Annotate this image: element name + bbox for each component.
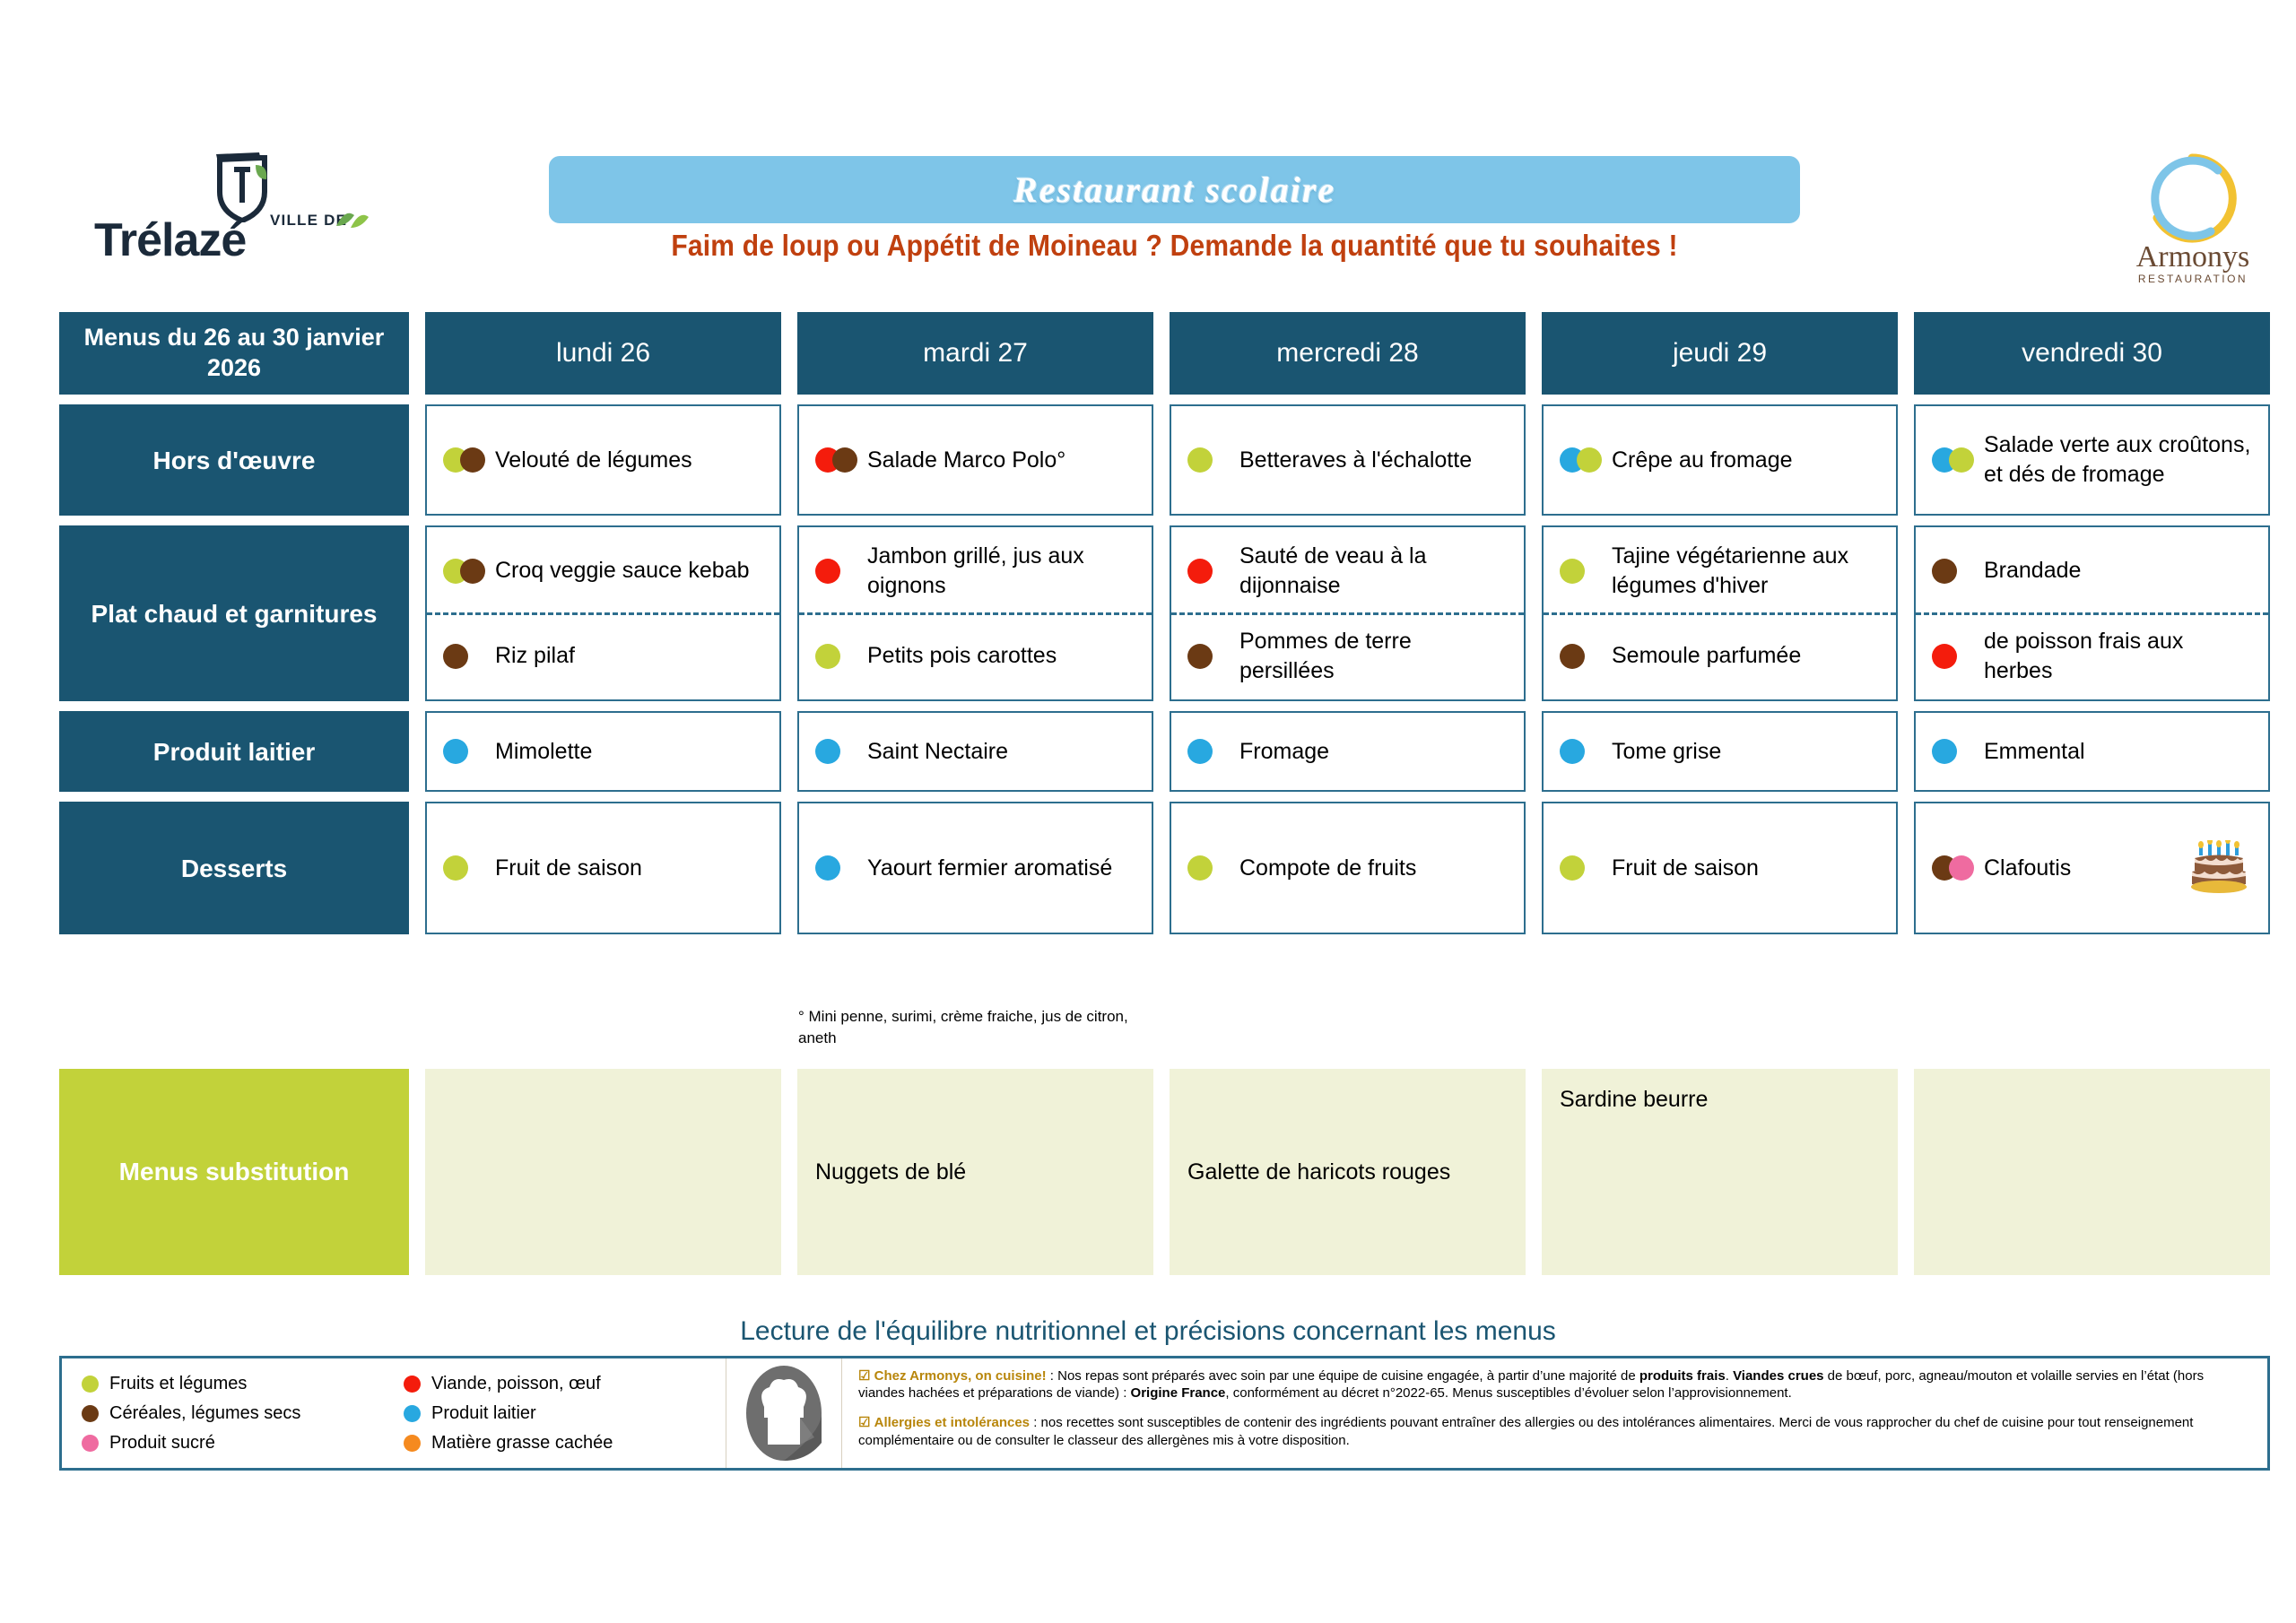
note-cuisine-heading: Chez Armonys, on cuisine!	[874, 1368, 1047, 1384]
dish-item-side: Petits pois carottes	[799, 615, 1152, 698]
nutrition-dots	[443, 558, 495, 585]
note-cuisine-bold-3: Origine France	[1131, 1385, 1226, 1401]
note-cuisine-body-4: , conformément au décret n°2022-65. Menu…	[1225, 1385, 1791, 1401]
dish-label: Mimolette	[495, 737, 765, 767]
legend-label: Produit laitier	[431, 1403, 536, 1424]
dish-item: Velouté de légumes	[427, 437, 779, 484]
cell-substitution-mercredi: Galette de haricots rouges	[1170, 1069, 1526, 1275]
legend-label: Fruits et légumes	[109, 1374, 247, 1394]
cell-hors-doeuvre-jeudi: Crêpe au fromage	[1542, 404, 1898, 516]
legend-label: Matière grasse cachée	[431, 1433, 613, 1454]
banner-subtitle: Faim de loup ou Appétit de Moineau ? Dem…	[549, 230, 1800, 264]
cell-laitier-mardi: Saint Nectaire	[797, 711, 1153, 792]
dish-label: Tome grise	[1612, 737, 1882, 767]
legend-item-viande-poisson-oeuf: Viande, poisson, œuf	[404, 1369, 726, 1398]
cell-plat-chaud-lundi: Croq veggie sauce kebab Riz pilaf	[425, 525, 781, 701]
legend-dot	[404, 1376, 421, 1393]
note-allergies-body: : nos recettes sont susceptibles de cont…	[858, 1415, 2193, 1447]
cell-laitier-vendredi: Emmental	[1914, 711, 2270, 792]
note-cuisine-bold-2: Viandes crues	[1733, 1368, 1823, 1384]
nutrition-dot-fruits-legumes	[1577, 447, 1602, 473]
dish-item: Tome grise	[1544, 728, 1896, 776]
restaurant-banner: Restaurant scolaire Faim de loup ou Appé…	[549, 156, 1800, 282]
dish-item: Emmental	[1916, 728, 2268, 776]
cell-dessert-jeudi: Fruit de saison	[1542, 802, 1898, 934]
dish-label: Betteraves à l'échalotte	[1239, 446, 1509, 475]
nutrition-dots	[1560, 855, 1612, 881]
nutrition-dots	[1932, 447, 1984, 473]
nutrition-dots	[1187, 738, 1239, 765]
nutrition-dots	[443, 643, 495, 670]
dish-item: Fruit de saison	[427, 845, 779, 892]
nutrition-dots	[1560, 738, 1612, 765]
cell-dessert-vendredi: Clafoutis	[1914, 802, 2270, 934]
nutrition-dots	[815, 643, 867, 670]
dish-label: Salade verte aux croûtons, et dés de fro…	[1984, 430, 2254, 490]
dish-item-side: Pommes de terre persillées	[1171, 615, 1524, 698]
dish-label: Fruit de saison	[495, 854, 765, 883]
nutrition-dot-fruits-legumes	[1187, 447, 1213, 473]
nutrition-dot-viande-poisson-oeuf	[1932, 644, 1957, 669]
legend-label: Viande, poisson, œuf	[431, 1374, 601, 1394]
dish-label: Salade Marco Polo°	[867, 446, 1137, 475]
cell-substitution-lundi	[425, 1069, 781, 1275]
nutrition-dot-cereales	[443, 644, 468, 669]
banner-title: Restaurant scolaire	[549, 169, 1800, 211]
dish-label: Compote de fruits	[1239, 854, 1509, 883]
note-cuisine-body-1: : Nos repas sont préparés avec soin par …	[1047, 1368, 1639, 1384]
chef-hat-icon	[737, 1360, 831, 1466]
nutrition-dots	[443, 738, 495, 765]
legend-column-left: Fruits et légumes Céréales, légumes secs…	[82, 1369, 404, 1457]
nutrition-dots	[815, 855, 867, 881]
legend-item-produit-sucre: Produit sucré	[82, 1428, 404, 1457]
nutrition-dot-cereales	[1932, 559, 1957, 584]
dish-item: Salade verte aux croûtons, et dés de fro…	[1916, 421, 2268, 499]
footer-panel: Fruits et légumes Céréales, légumes secs…	[59, 1356, 2270, 1471]
dish-item-main: Tajine végétarienne aux légumes d'hiver	[1544, 530, 1896, 612]
nutrition-dot-produit-laitier	[1187, 739, 1213, 764]
city-name: Trélazé	[94, 217, 363, 264]
nutrition-dots	[1187, 447, 1239, 473]
dish-item-side: Semoule parfumée	[1544, 615, 1896, 698]
legend-dot	[404, 1405, 421, 1422]
day-header-mercredi: mercredi 28	[1170, 312, 1526, 395]
nutrition-legend: Fruits et légumes Céréales, légumes secs…	[62, 1358, 726, 1468]
dish-label: Pommes de terre persillées	[1239, 627, 1509, 686]
cell-plat-chaud-mercredi: Sauté de veau à la dijonnaise Pommes de …	[1170, 525, 1526, 701]
dish-label: Velouté de légumes	[495, 446, 765, 475]
legend-label: Produit sucré	[109, 1433, 215, 1454]
dish-item: Fruit de saison	[1544, 845, 1896, 892]
nutrition-dots	[443, 855, 495, 881]
dish-label: Sauté de veau à la dijonnaise	[1239, 542, 1509, 601]
note-allergies-heading: Allergies et intolérances	[874, 1415, 1030, 1430]
nutrition-dot-viande-poisson-oeuf	[1187, 559, 1213, 584]
dish-item-main: Jambon grillé, jus aux oignons	[799, 530, 1152, 612]
nutrition-dots	[1187, 643, 1239, 670]
row-desserts: Desserts Fruit de saison Yaourt fermier …	[59, 802, 2270, 934]
legend-item-produit-laitier: Produit laitier	[404, 1399, 726, 1428]
nutrition-dot-produit-laitier	[815, 855, 840, 881]
legend-item-matiere-grasse: Matière grasse cachée	[404, 1428, 726, 1457]
cell-dessert-mardi: Yaourt fermier aromatisé	[797, 802, 1153, 934]
cell-plat-chaud-vendredi: Brandade de poisson frais aux herbes	[1914, 525, 2270, 701]
dish-label: Crêpe au fromage	[1612, 446, 1882, 475]
note-cuisine: ☑ Chez Armonys, on cuisine! : Nos repas …	[858, 1367, 2253, 1402]
nutrition-dot-cereales	[460, 447, 485, 473]
nutrition-dot-cereales	[1187, 644, 1213, 669]
note-cuisine-body-2: .	[1726, 1368, 1733, 1384]
row-menus-substitution: Menus substitution Nuggets de blé Galett…	[59, 1069, 2270, 1275]
checkbox-icon: ☑	[858, 1368, 870, 1384]
row-label-plat-chaud: Plat chaud et garnitures	[59, 525, 409, 701]
cell-hors-doeuvre-lundi: Velouté de légumes	[425, 404, 781, 516]
nutrition-dot-fruits-legumes	[1560, 855, 1585, 881]
chef-hat-badge	[726, 1358, 842, 1468]
cell-laitier-mercredi: Fromage	[1170, 711, 1526, 792]
row-plat-chaud: Plat chaud et garnitures Croq veggie sau…	[59, 525, 2270, 701]
armonys-logo: Armonys RESTAURATION	[2103, 152, 2283, 287]
nutrition-dot-cereales	[832, 447, 857, 473]
cell-laitier-lundi: Mimolette	[425, 711, 781, 792]
dish-item: Betteraves à l'échalotte	[1171, 437, 1524, 484]
dish-item: Salade Marco Polo°	[799, 437, 1152, 484]
nutrition-dots	[1932, 855, 1984, 881]
dish-label: Brandade	[1984, 556, 2254, 586]
dish-item-main: Brandade	[1916, 530, 2268, 612]
nutrition-dots	[1187, 855, 1239, 881]
cell-substitution-jeudi: Sardine beurre	[1542, 1069, 1898, 1275]
table-header-row: Menus du 26 au 30 janvier 2026 lundi 26 …	[59, 312, 2270, 395]
dish-label: Yaourt fermier aromatisé	[867, 854, 1137, 883]
date-range-header: Menus du 26 au 30 janvier 2026	[59, 312, 409, 395]
legend-dot	[82, 1376, 99, 1393]
dish-item: Crêpe au fromage	[1544, 437, 1896, 484]
nutrition-dots	[815, 558, 867, 585]
nutrition-dots	[815, 738, 867, 765]
nutrition-dot-cereales	[460, 559, 485, 584]
nutrition-dot-fruits-legumes	[1949, 447, 1974, 473]
nutrition-dot-fruits-legumes	[815, 644, 840, 669]
nutrition-dot-fruits-legumes	[443, 855, 468, 881]
nutrition-dot-produit-laitier	[1560, 739, 1585, 764]
legend-label: Céréales, légumes secs	[109, 1403, 300, 1424]
cell-laitier-jeudi: Tome grise	[1542, 711, 1898, 792]
dish-label: Riz pilaf	[495, 641, 765, 671]
cell-substitution-mardi: Nuggets de blé	[797, 1069, 1153, 1275]
dish-item-side: de poisson frais aux herbes	[1916, 615, 2268, 698]
day-header-mardi: mardi 27	[797, 312, 1153, 395]
dish-item-side: Riz pilaf	[427, 615, 779, 698]
cell-dessert-mercredi: Compote de fruits	[1170, 802, 1526, 934]
dish-label: Fruit de saison	[1612, 854, 1882, 883]
dish-label: Semoule parfumée	[1612, 641, 1882, 671]
cell-substitution-vendredi	[1914, 1069, 2270, 1275]
note-allergies: ☑ Allergies et intolérances : nos recett…	[858, 1414, 2253, 1448]
cell-plat-chaud-mardi: Jambon grillé, jus aux oignons Petits po…	[797, 525, 1153, 701]
birthday-cake-icon	[2189, 840, 2248, 896]
menu-footnote: ° Mini penne, surimi, crème fraiche, jus…	[798, 1006, 1157, 1049]
nutrition-dots	[1560, 558, 1612, 585]
document-header: VILLE DE Trélazé Restaurant scolaire Fai…	[0, 143, 2296, 309]
dish-item: Fromage	[1171, 728, 1524, 776]
dish-item-main: Croq veggie sauce kebab	[427, 530, 779, 612]
shield-icon	[214, 152, 270, 222]
cell-hors-doeuvre-mercredi: Betteraves à l'échalotte	[1170, 404, 1526, 516]
day-header-lundi: lundi 26	[425, 312, 781, 395]
menu-table: Menus du 26 au 30 janvier 2026 lundi 26 …	[59, 312, 2270, 944]
armonys-ring-icon	[2146, 152, 2238, 244]
armonys-name: Armonys	[2103, 242, 2283, 273]
row-label-hors-doeuvre: Hors d'œuvre	[59, 404, 409, 516]
row-label-substitution: Menus substitution	[59, 1069, 409, 1275]
dish-label: Saint Nectaire	[867, 737, 1137, 767]
nutrition-dots	[443, 447, 495, 473]
dish-label: Croq veggie sauce kebab	[495, 556, 765, 586]
cell-plat-chaud-jeudi: Tajine végétarienne aux légumes d'hiver …	[1542, 525, 1898, 701]
armonys-subtitle: RESTAURATION	[2103, 273, 2283, 285]
dish-item: Yaourt fermier aromatisé	[799, 845, 1152, 892]
nutrition-legend-title: Lecture de l'équilibre nutritionnel et p…	[0, 1316, 2296, 1347]
day-header-vendredi: vendredi 30	[1914, 312, 2270, 395]
nutrition-dots	[1187, 558, 1239, 585]
dish-label: Tajine végétarienne aux légumes d'hiver	[1612, 542, 1882, 601]
cell-hors-doeuvre-vendredi: Salade verte aux croûtons, et dés de fro…	[1914, 404, 2270, 516]
legend-dot	[404, 1435, 421, 1452]
nutrition-dot-viande-poisson-oeuf	[815, 559, 840, 584]
row-produit-laitier: Produit laitier Mimolette Saint Nectaire…	[59, 711, 2270, 792]
menu-page: VILLE DE Trélazé Restaurant scolaire Fai…	[0, 0, 2296, 1623]
dish-label: Petits pois carottes	[867, 641, 1137, 671]
cell-hors-doeuvre-mardi: Salade Marco Polo°	[797, 404, 1153, 516]
dish-label: Emmental	[1984, 737, 2254, 767]
dish-item: Saint Nectaire	[799, 728, 1152, 776]
nutrition-dot-produit-laitier	[815, 739, 840, 764]
legend-item-cereales: Céréales, légumes secs	[82, 1399, 404, 1428]
nutrition-dots	[1560, 643, 1612, 670]
nutrition-dot-cereales	[1560, 644, 1585, 669]
nutrition-dots	[1932, 738, 1984, 765]
row-hors-doeuvre: Hors d'œuvre Velouté de légumes Salade M…	[59, 404, 2270, 516]
legend-dot	[82, 1435, 99, 1452]
dish-label: de poisson frais aux herbes	[1984, 627, 2254, 686]
dish-label: Jambon grillé, jus aux oignons	[867, 542, 1137, 601]
dish-item-main: Sauté de veau à la dijonnaise	[1171, 530, 1524, 612]
row-label-produit-laitier: Produit laitier	[59, 711, 409, 792]
footer-notes: ☑ Chez Armonys, on cuisine! : Nos repas …	[842, 1358, 2267, 1468]
nutrition-dots	[815, 447, 867, 473]
note-cuisine-bold-1: produits frais	[1639, 1368, 1726, 1384]
row-label-desserts: Desserts	[59, 802, 409, 934]
legend-dot	[82, 1405, 99, 1422]
checkbox-icon: ☑	[858, 1415, 870, 1430]
nutrition-dot-produit-laitier	[1932, 739, 1957, 764]
nutrition-dots	[1932, 558, 1984, 585]
nutrition-dot-produit-sucre	[1949, 855, 1974, 881]
legend-column-right: Viande, poisson, œuf Produit laitier Mat…	[404, 1369, 726, 1457]
dish-item: Mimolette	[427, 728, 779, 776]
nutrition-dot-fruits-legumes	[1560, 559, 1585, 584]
day-header-jeudi: jeudi 29	[1542, 312, 1898, 395]
nutrition-dot-produit-laitier	[443, 739, 468, 764]
dish-label: Fromage	[1239, 737, 1509, 767]
cell-dessert-lundi: Fruit de saison	[425, 802, 781, 934]
nutrition-dots	[1560, 447, 1612, 473]
nutrition-dots	[1932, 643, 1984, 670]
dish-item: Compote de fruits	[1171, 845, 1524, 892]
legend-item-fruits-legumes: Fruits et légumes	[82, 1369, 404, 1398]
nutrition-dot-fruits-legumes	[1187, 855, 1213, 881]
trelaze-city-logo: VILLE DE Trélazé	[94, 152, 390, 296]
